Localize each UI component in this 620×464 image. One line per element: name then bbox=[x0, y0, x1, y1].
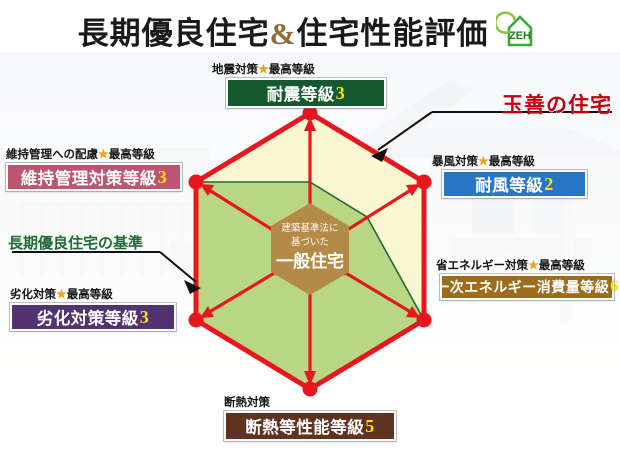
metric-grade-insulation: 5 bbox=[364, 416, 375, 437]
metric-value-maintenance: 維持管理対策等級 bbox=[21, 165, 157, 189]
metric-box-quake: 耐震等級3 bbox=[226, 78, 386, 108]
metric-grade-wind: 2 bbox=[543, 174, 554, 195]
metric-box-degradation: 劣化対策等級3 bbox=[10, 303, 176, 331]
metric-caption-text-quake: 地震対策 bbox=[212, 64, 258, 76]
metric-caption-wind: 暴風対策★最高等級 bbox=[432, 155, 535, 169]
metric-box-wind: 耐風等級2 bbox=[442, 170, 587, 198]
metric-grade-quake: 3 bbox=[335, 83, 346, 104]
center-text-line1: 建築基準法に bbox=[281, 222, 338, 234]
center-text-line2: 基づいた bbox=[291, 236, 329, 248]
metric-caption-suffix-quake: 最高等級 bbox=[269, 64, 315, 76]
metric-value-quake: 耐震等級 bbox=[267, 81, 335, 105]
star-icon-energy: ★ bbox=[528, 258, 539, 272]
metric-value-wind: 耐風等級 bbox=[475, 172, 543, 196]
metric-caption-suffix-maintenance: 最高等級 bbox=[109, 149, 155, 161]
metric-caption-suffix-degradation: 最高等級 bbox=[67, 289, 113, 301]
metric-box-maintenance: 維持管理対策等級3 bbox=[6, 163, 182, 191]
metric-grade-degradation: 3 bbox=[139, 307, 150, 328]
metric-caption-text-wind: 暴風対策 bbox=[432, 156, 478, 168]
metric-caption-text-degradation: 劣化対策 bbox=[10, 289, 56, 301]
infographic-page: 長期優良住宅&住宅性能評価 ZEH bbox=[0, 0, 620, 464]
metric-caption-text-maintenance: 維持管理への配慮 bbox=[6, 149, 98, 161]
metric-box-energy: 一次エネルギー消費量等級6 bbox=[440, 274, 614, 300]
star-icon-wind: ★ bbox=[478, 154, 489, 168]
metric-value-degradation: 劣化対策等級 bbox=[37, 305, 139, 329]
metric-value-energy: 一次エネルギー消費量等級 bbox=[435, 277, 609, 297]
metric-value-insulation: 断熱等性能等級 bbox=[245, 414, 364, 438]
metric-caption-suffix-wind: 最高等級 bbox=[489, 156, 535, 168]
star-icon-degradation: ★ bbox=[56, 287, 67, 301]
star-icon-quake: ★ bbox=[258, 62, 269, 76]
metric-caption-maintenance: 維持管理への配慮★最高等級 bbox=[6, 148, 155, 162]
callout-criteria: 長期優良住宅の基準 bbox=[8, 232, 143, 253]
metric-caption-insulation: 断熱対策 bbox=[224, 396, 270, 410]
metric-caption-text-energy: 省エネルギー対策 bbox=[436, 260, 528, 272]
metric-grade-maintenance: 3 bbox=[157, 167, 168, 188]
metric-grade-energy: 6 bbox=[609, 278, 619, 296]
star-icon-maintenance: ★ bbox=[98, 147, 109, 161]
center-text-line3: 一般住宅 bbox=[276, 251, 344, 271]
metric-caption-suffix-energy: 最高等級 bbox=[539, 260, 585, 272]
callout-owner-house: 玉善の住宅 bbox=[502, 89, 612, 119]
metric-caption-quake: 地震対策★最高等級 bbox=[212, 63, 315, 77]
metric-caption-degradation: 劣化対策★最高等級 bbox=[10, 288, 113, 302]
metric-caption-text-insulation: 断熱対策 bbox=[224, 397, 270, 409]
metric-caption-energy: 省エネルギー対策★最高等級 bbox=[436, 259, 585, 273]
metric-box-insulation: 断熱等性能等級5 bbox=[224, 411, 396, 441]
